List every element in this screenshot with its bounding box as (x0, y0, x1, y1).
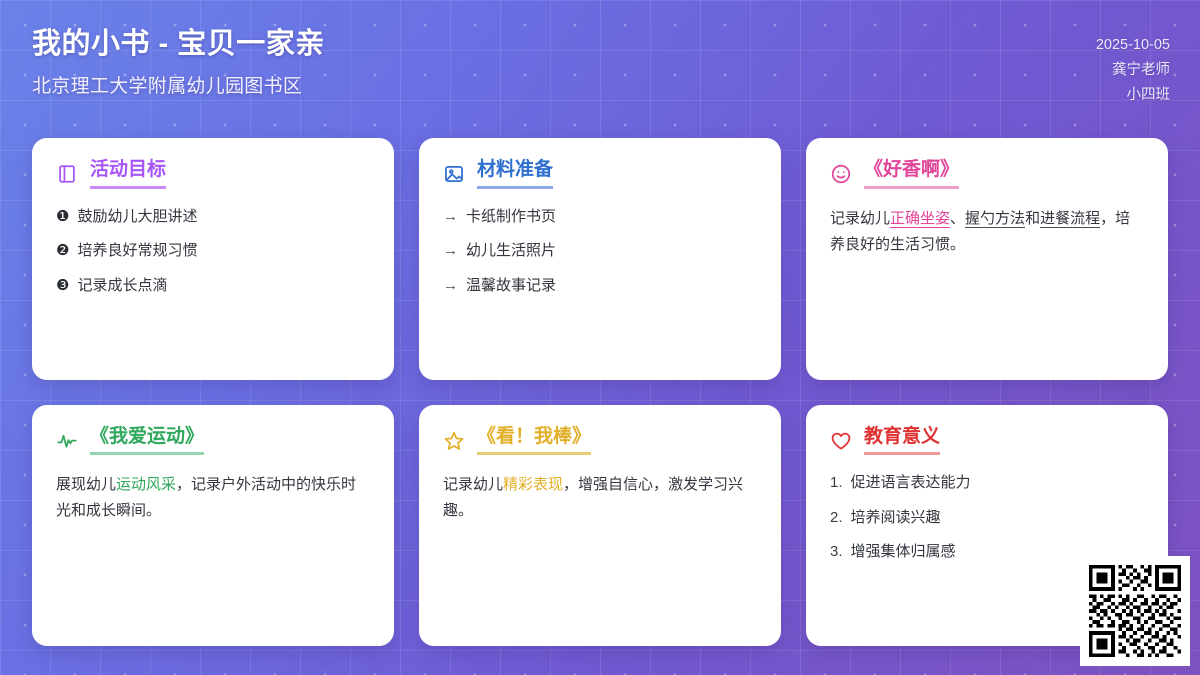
pulse-icon (56, 430, 78, 452)
list-item-label: 鼓励幼儿大胆讲述 (77, 206, 197, 229)
card-list: ❶鼓励幼儿大胆讲述❷培养良好常规习惯❸记录成长点滴 (56, 206, 370, 298)
list-item: →卡纸制作书页 (443, 206, 757, 229)
card-look-im-great: 《看！我棒》记录幼儿精彩表现，增强自信心，激发学习兴趣。 (419, 405, 781, 647)
card-activity-goal: 活动目标❶鼓励幼儿大胆讲述❷培养良好常规习惯❸记录成长点滴 (32, 138, 394, 380)
card-header: 《看！我棒》 (443, 427, 757, 456)
list-item: 1.促进语言表达能力 (830, 472, 1144, 495)
card-body-text: 记录幼儿精彩表现，增强自信心，激发学习兴趣。 (443, 472, 757, 524)
text-part: 运动风采 (116, 476, 176, 493)
card-header: 活动目标 (56, 160, 370, 189)
list-item-marker: ❷ (56, 240, 69, 263)
text-part: 、 (950, 210, 965, 227)
text-part: 记录幼儿 (443, 476, 503, 493)
text-part: 正确坐姿 (890, 210, 950, 228)
list-item: ❷培养良好常规习惯 (56, 240, 370, 263)
card-title: 《看！我棒》 (477, 427, 591, 456)
list-item-label: 培养良好常规习惯 (77, 240, 197, 263)
card-i-love-sports: 《我爱运动》展现幼儿运动风采，记录户外活动中的快乐时光和成长瞬间。 (32, 405, 394, 647)
list-item-label: 幼儿生活照片 (466, 240, 556, 263)
text-part: 精彩表现 (503, 476, 563, 493)
image-icon (443, 163, 465, 185)
page-subtitle: 北京理工大学附属幼儿园图书区 (32, 71, 325, 98)
list-item-marker: 1. (830, 472, 843, 495)
list-item-marker: → (443, 206, 458, 229)
card-body-text: 记录幼儿正确坐姿、握勺方法和进餐流程，培养良好的生活习惯。 (830, 206, 1144, 258)
qr-code[interactable] (1080, 556, 1190, 666)
list-item: 2.培养阅读兴趣 (830, 507, 1144, 530)
text-part: 记录幼儿 (830, 210, 890, 227)
card-list: →卡纸制作书页→幼儿生活照片→温馨故事记录 (443, 206, 757, 298)
header-date: 2025-10-05 (1096, 33, 1170, 58)
list-item-label: 促进语言表达能力 (851, 472, 971, 495)
card-title: 教育意义 (864, 427, 940, 456)
list-item: →幼儿生活照片 (443, 240, 757, 263)
list-item: →温馨故事记录 (443, 275, 757, 298)
list-item-marker: → (443, 275, 458, 298)
card-header: 教育意义 (830, 427, 1144, 456)
card-header: 《我爱运动》 (56, 427, 370, 456)
list-item-label: 记录成长点滴 (77, 275, 167, 298)
list-item-label: 温馨故事记录 (466, 275, 556, 298)
text-part: 展现幼儿 (56, 476, 116, 493)
card-good-smell: 《好香啊》记录幼儿正确坐姿、握勺方法和进餐流程，培养良好的生活习惯。 (806, 138, 1168, 380)
qr-code-image (1089, 565, 1181, 657)
list-item-marker: 3. (830, 541, 843, 564)
card-list: 1.促进语言表达能力2.培养阅读兴趣3.增强集体归属感 (830, 472, 1144, 564)
page-title: 我的小书 - 宝贝一家亲 (32, 26, 325, 62)
card-title: 活动目标 (90, 160, 166, 189)
text-part: 握勺方法 (965, 210, 1025, 228)
page-header: 我的小书 - 宝贝一家亲 北京理工大学附属幼儿园图书区 2025-10-05 龚… (0, 0, 1200, 120)
list-item-marker: ❶ (56, 206, 69, 229)
book-icon (56, 163, 78, 185)
smiley-icon (830, 163, 852, 185)
card-header: 材料准备 (443, 160, 757, 189)
list-item-label: 增强集体归属感 (851, 541, 956, 564)
card-body-text: 展现幼儿运动风采，记录户外活动中的快乐时光和成长瞬间。 (56, 472, 370, 524)
list-item: ❸记录成长点滴 (56, 275, 370, 298)
text-part: 进餐流程 (1040, 210, 1100, 228)
header-teacher: 龚宁老师 (1096, 58, 1170, 83)
header-meta: 2025-10-05 龚宁老师 小四班 (1096, 33, 1170, 108)
list-item-marker: → (443, 240, 458, 263)
list-item-label: 培养阅读兴趣 (851, 507, 941, 530)
card-grid: 活动目标❶鼓励幼儿大胆讲述❷培养良好常规习惯❸记录成长点滴材料准备→卡纸制作书页… (32, 138, 1168, 646)
card-material-prep: 材料准备→卡纸制作书页→幼儿生活照片→温馨故事记录 (419, 138, 781, 380)
text-part: 和 (1025, 210, 1040, 227)
star-icon (443, 430, 465, 452)
card-header: 《好香啊》 (830, 160, 1144, 189)
list-item-label: 卡纸制作书页 (466, 206, 556, 229)
heart-icon (830, 430, 852, 452)
list-item-marker: 2. (830, 507, 843, 530)
card-title: 材料准备 (477, 160, 553, 189)
list-item: ❶鼓励幼儿大胆讲述 (56, 206, 370, 229)
list-item-marker: ❸ (56, 275, 69, 298)
header-title-block: 我的小书 - 宝贝一家亲 北京理工大学附属幼儿园图书区 (32, 26, 325, 98)
card-title: 《我爱运动》 (90, 427, 204, 456)
header-class: 小四班 (1096, 83, 1170, 108)
card-title: 《好香啊》 (864, 160, 959, 189)
